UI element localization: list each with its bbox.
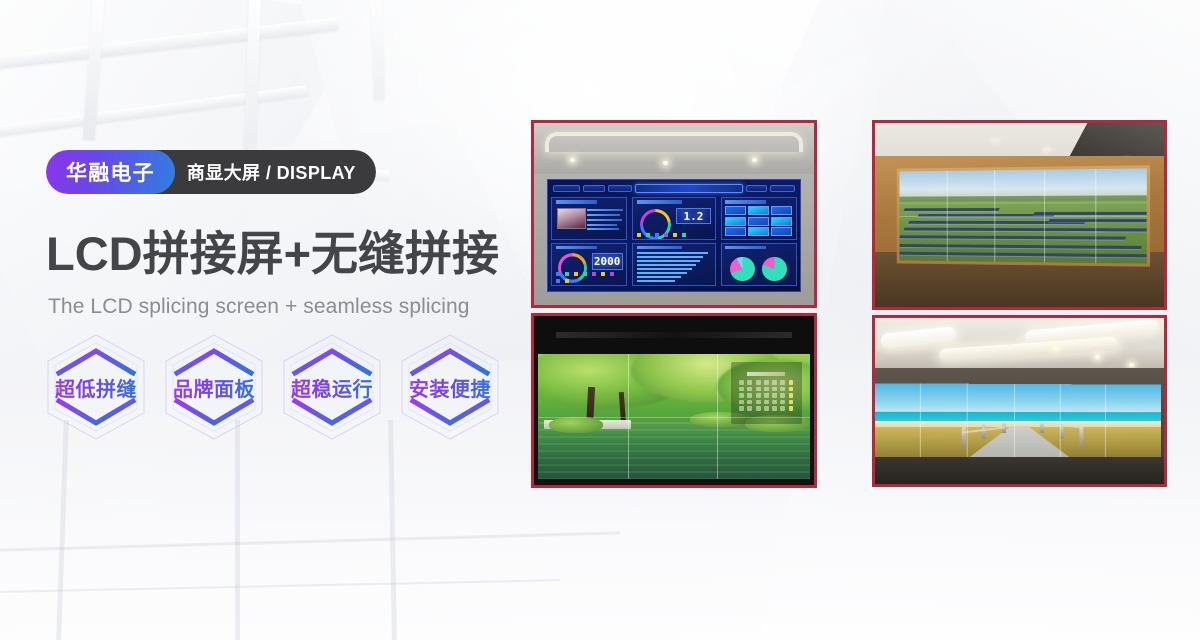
fence-post [1040,423,1044,433]
photo-content: 1.2 [534,123,814,305]
upper-bezel-row [534,316,814,353]
topbar-chip [746,185,768,193]
dashboard-cards: 1.2 [551,197,796,289]
sky [900,169,1148,199]
fence-post [982,425,986,440]
page-subtitle: The LCD splicing screen + seamless splic… [48,295,470,319]
card-pie-charts [721,243,797,286]
feature-label: 安装便捷 [409,373,491,402]
floor [875,457,1164,484]
feature-hexagon: 品牌面板 [159,331,269,443]
feature-hexagon: 安装便捷 [395,331,505,443]
metric-box: 1.2 [676,208,710,224]
dashboard-screen: 1.2 [547,179,802,292]
calendar-header [747,372,785,376]
pie-group [726,258,791,281]
topbar-chip [608,185,632,193]
solar-field [900,201,1148,264]
gallery-photo-solar-wall[interactable] [872,120,1167,310]
tile-grid [725,206,792,236]
gallery-photo-dashboard[interactable]: 1.2 [531,120,817,308]
tile [748,227,768,236]
chart-legend [556,272,623,283]
brand-pill: 华融电子 [46,150,175,194]
downlight [570,158,575,162]
downlight [991,138,1000,143]
panel-textlines [587,208,623,232]
photo-content [534,316,814,485]
brand-badge: 华融电子 商显大屏 / DISPLAY [46,150,376,194]
metric-value: 2000 [594,255,621,268]
card-donut-metric: 1.2 [632,197,715,240]
downlight [752,158,757,162]
sky [875,384,1161,415]
feature-hexagon: 超稳运行 [277,331,387,443]
tile [725,217,745,226]
downlight [1043,147,1051,152]
feature-label: 超稳运行 [291,373,373,402]
video-wall-screen [875,384,1161,460]
tile [748,217,768,226]
dashboard-topbar [551,183,796,195]
photo-content [875,318,1164,484]
gallery-photo-garden-wall[interactable] [531,313,817,488]
downlight [1095,355,1100,359]
feature-list: 超低拼缝 品牌面板 [41,331,505,443]
tile [771,227,791,236]
tile [771,217,791,226]
panel-thumbnail [557,208,587,229]
feature-label: 品牌面板 [173,373,255,402]
category-label: 商显大屏 / DISPLAY [187,159,356,185]
calendar-overlay [731,362,802,425]
topbar-chip [583,185,605,193]
tile [725,206,745,215]
topbar-chip [553,185,580,193]
gallery-photo-beach-wall[interactable] [872,315,1167,487]
tile [771,206,791,215]
photo-content [875,123,1164,307]
feature-hexagon: 超低拼缝 [41,331,151,443]
pie-chart [730,257,755,282]
metric-value: 1.2 [684,210,704,223]
chart-legend [637,233,710,237]
feature-label: 超低拼缝 [55,373,137,402]
brand-name: 华融电子 [66,157,155,187]
tile [725,227,745,236]
metric-box: 2000 [592,253,623,269]
bar-list [637,252,710,283]
card-process-tiles [721,197,797,240]
cove-light [545,132,803,152]
card-image-panel [551,197,627,240]
video-wall-frame [897,165,1151,266]
shrub [549,417,603,433]
pie-chart [762,257,787,282]
page-title: LCD拼接屏+无缝拼接 [46,228,499,280]
calendar-grid [739,380,793,410]
topbar-chip [770,185,794,193]
banner-copy: 华融电子 商显大屏 / DISPLAY LCD拼接屏+无缝拼接 The LCD … [46,0,546,640]
video-wall-screen [538,354,810,479]
fence-post [1080,428,1084,447]
dashboard-title-plate [635,184,743,193]
promo-banner: 华融电子 商显大屏 / DISPLAY LCD拼接屏+无缝拼接 The LCD … [0,0,1200,640]
video-wall-screen [900,169,1148,264]
card-bar-ranking [632,243,715,286]
tile [748,206,768,215]
card-donut-count: 2000 [551,243,627,286]
